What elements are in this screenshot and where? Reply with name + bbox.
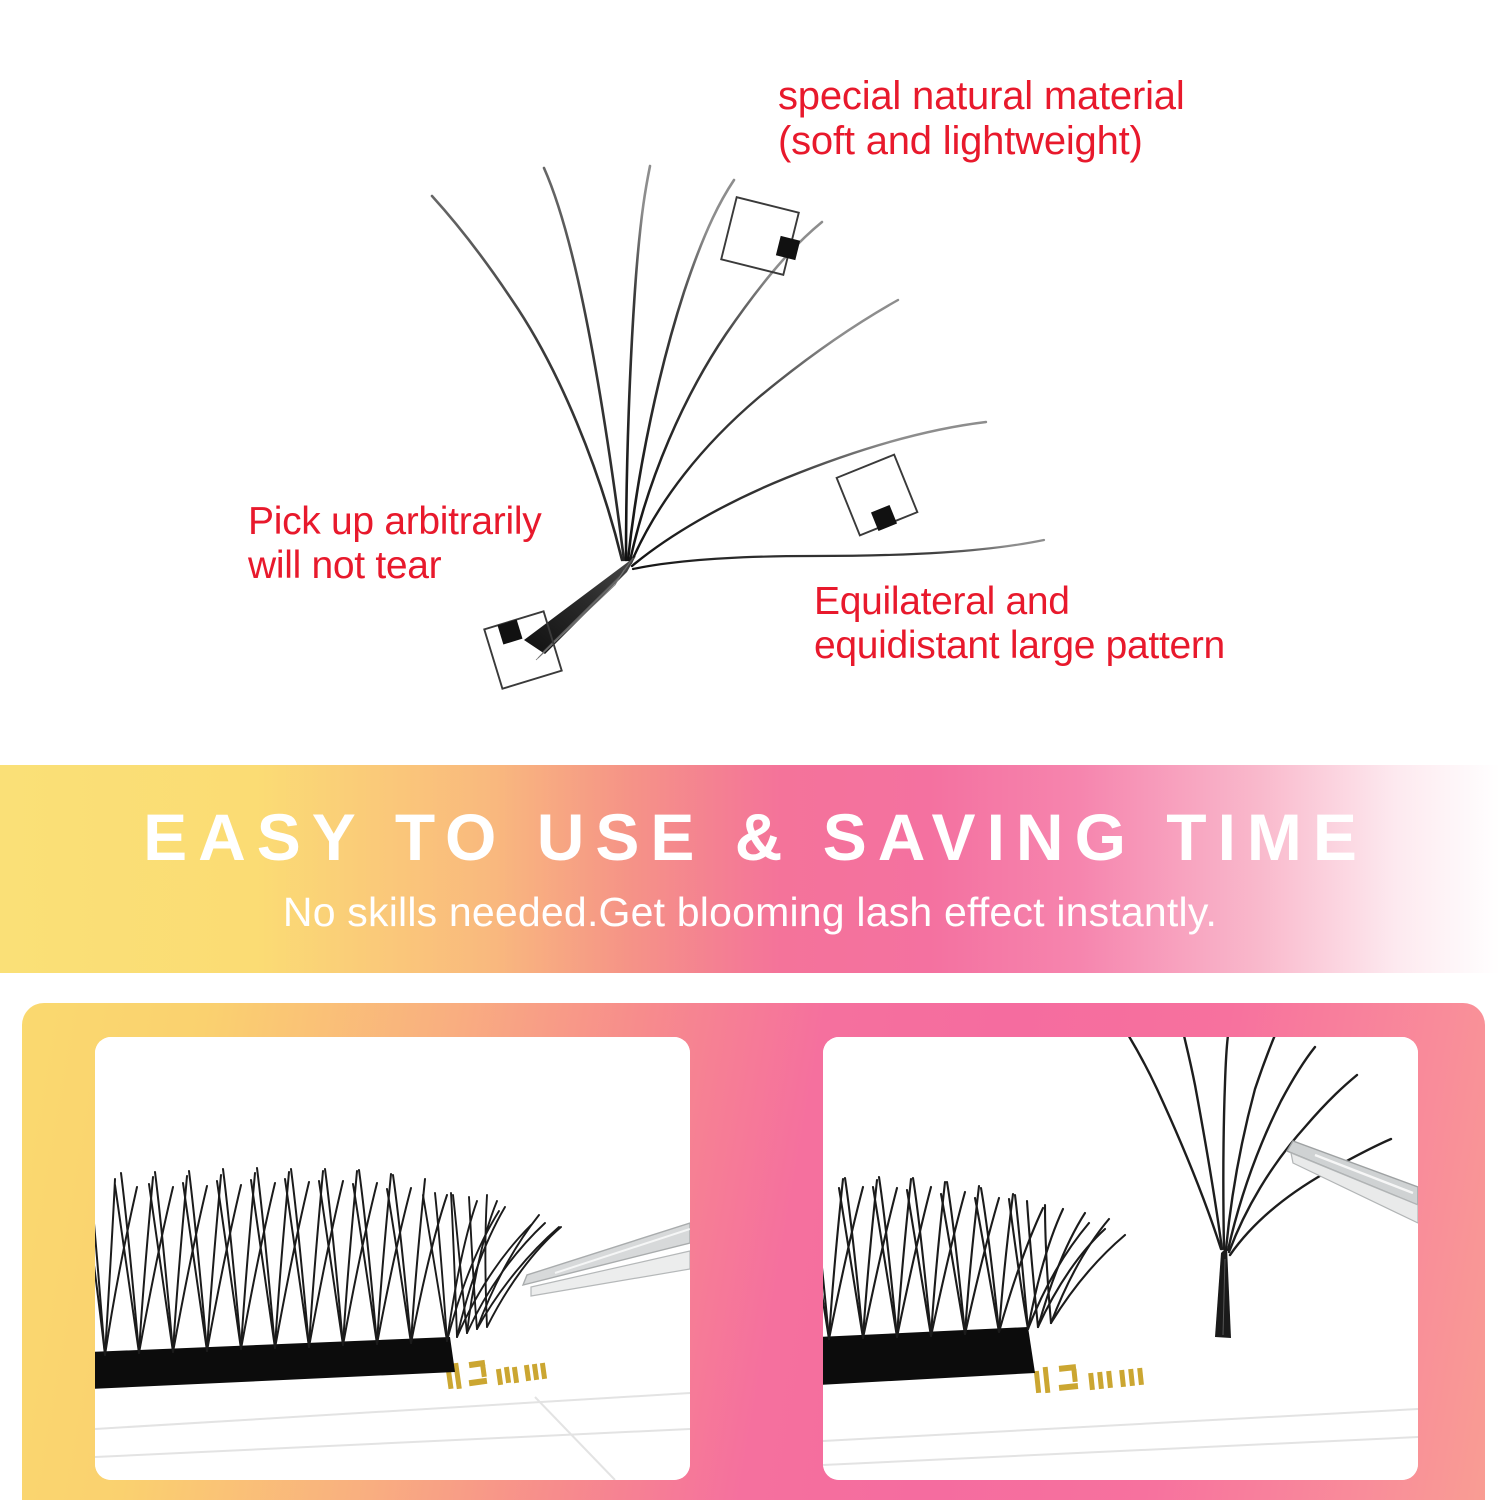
annotation-marker-top (721, 197, 800, 275)
lash-fan-illustration (0, 0, 1500, 765)
callout-equilateral-equidistant: Equilateral and equidistant large patter… (814, 580, 1225, 667)
promo-banner: EASY TO USE & SAVING TIME No skills need… (0, 765, 1500, 973)
photo-card-lash-fan-lifted (823, 1037, 1418, 1480)
promo-headline: EASY TO USE & SAVING TIME (0, 799, 1500, 875)
lash-fan-lift-photo (823, 1037, 1418, 1480)
photo-card-lash-tray-tweezers (95, 1037, 690, 1480)
callout-pick-up-arbitrarily: Pick up arbitrarily will not tear (248, 500, 541, 587)
lash-tray-photo (95, 1037, 690, 1480)
promo-subtitle: No skills needed.Get blooming lash effec… (0, 889, 1500, 936)
callout-special-natural-material: special natural material (soft and light… (778, 74, 1185, 164)
annotation-marker-middle (837, 455, 918, 536)
lash-diagram-section: special natural material (soft and light… (0, 0, 1500, 765)
product-photo-panel (22, 1003, 1485, 1500)
